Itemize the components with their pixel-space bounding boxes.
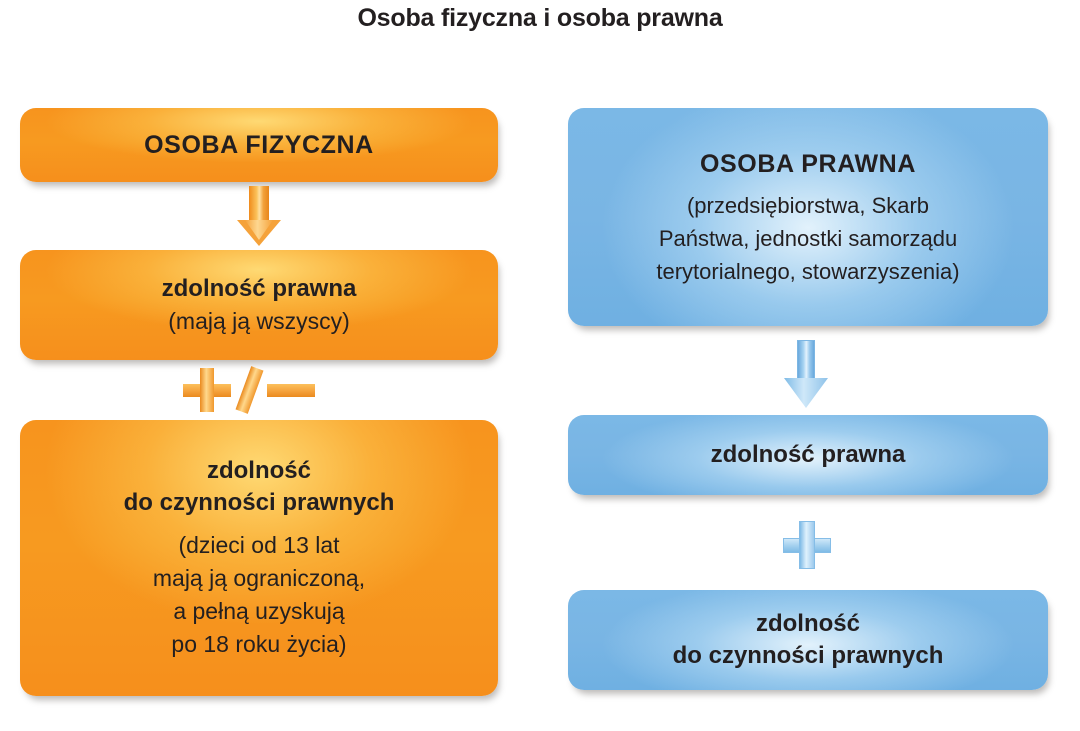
node-osoba-prawna: OSOBA PRAWNA (przedsiębiorstwa, Skarb Pa… xyxy=(568,108,1048,326)
node-osoba-prawna-note-line1: (przedsiębiorstwa, Skarb xyxy=(568,189,1048,222)
node-osoba-prawna-note-line3: terytorialnego, stowarzyszenia) xyxy=(568,255,1048,288)
node-fizyczna-zdolnosc-prawna: zdolność prawna (mają ją wszyscy) xyxy=(20,250,498,360)
node-prawna-zdolnosc-prawna: zdolność prawna xyxy=(568,415,1048,495)
node-fizyczna-zdcp-note-line2: mają ją ograniczoną, xyxy=(20,562,498,595)
node-fizyczna-zdcp-title-line2: do czynności prawnych xyxy=(20,487,498,519)
node-prawna-zdolnosc-prawna-title: zdolność prawna xyxy=(568,439,1048,471)
node-fizyczna-zdcp-note-line3: a pełną uzyskują xyxy=(20,595,498,628)
arrow-shaft xyxy=(249,186,269,222)
node-fizyczna-zdcp-note-line1: (dzieci od 13 lat xyxy=(20,529,498,562)
node-fizyczna-zdolnosc-do-czynnosci-prawnych: zdolność do czynności prawnych (dzieci o… xyxy=(20,420,498,696)
node-prawna-zdcp-title-line1: zdolność xyxy=(568,608,1048,640)
node-prawna-zdolnosc-do-czynnosci-prawnych: zdolność do czynności prawnych xyxy=(568,590,1048,690)
arrow-head xyxy=(784,378,828,408)
slash-bar xyxy=(236,366,264,414)
node-fizyczna-zdolnosc-prawna-note: (mają ją wszyscy) xyxy=(20,305,498,338)
node-osoba-fizyczna: OSOBA FIZYCZNA xyxy=(20,108,498,182)
node-prawna-zdcp-title-line2: do czynności prawnych xyxy=(568,640,1048,672)
plus-minus-icon xyxy=(183,368,315,412)
node-fizyczna-zdcp-note-line4: po 18 roku życia) xyxy=(20,628,498,661)
down-arrow-icon-blue xyxy=(784,340,828,410)
plus-icon xyxy=(783,521,831,569)
page-title: Osoba fizyczna i osoba prawna xyxy=(0,0,1080,36)
plus-vertical-bar xyxy=(799,521,815,569)
down-arrow-icon-orange xyxy=(237,186,281,246)
node-fizyczna-zdcp-title-line1: zdolność xyxy=(20,455,498,487)
plus-vertical-bar xyxy=(200,368,214,412)
minus-bar xyxy=(267,384,315,397)
node-osoba-prawna-label: OSOBA PRAWNA xyxy=(568,147,1048,181)
diagram-canvas: Osoba fizyczna i osoba prawna OSOBA FIZY… xyxy=(0,0,1080,731)
arrow-shaft xyxy=(797,340,815,380)
node-osoba-prawna-note-line2: Państwa, jednostki samorządu xyxy=(568,222,1048,255)
node-osoba-fizyczna-label: OSOBA FIZYCZNA xyxy=(20,128,498,162)
node-fizyczna-zdolnosc-prawna-title: zdolność prawna xyxy=(20,273,498,305)
